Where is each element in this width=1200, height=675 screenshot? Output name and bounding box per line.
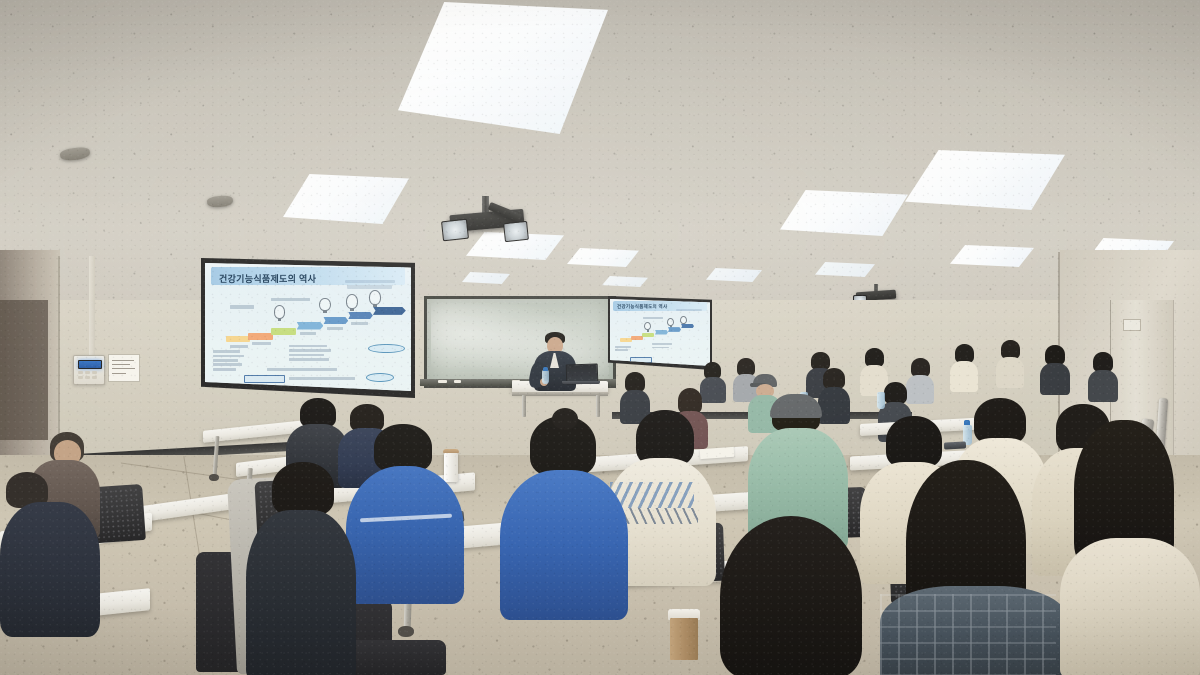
slide-body-text — [267, 368, 337, 371]
lecture-hall-photo: 건강기능식품제도의 역사 — [0, 0, 1200, 675]
door-sign — [1123, 319, 1141, 331]
audience-member — [700, 516, 880, 675]
hair-bun — [552, 408, 578, 430]
slide-bulb-icon — [346, 294, 358, 309]
hair — [1045, 345, 1065, 365]
presenter-water-bottle — [542, 370, 549, 384]
timeline-segment — [323, 317, 348, 325]
control-panel-button[interactable] — [78, 371, 83, 374]
slide-caption — [230, 345, 249, 348]
audience-member — [500, 416, 628, 616]
slide-caption — [351, 322, 367, 325]
podium-edge — [512, 392, 608, 396]
torso — [996, 357, 1024, 388]
timeline-segment — [271, 328, 296, 335]
audience-member — [950, 344, 978, 390]
projector-lens — [503, 221, 529, 242]
presenter-laptop-base — [562, 381, 600, 384]
slide-body-text — [289, 354, 324, 357]
timeline-segment — [373, 307, 406, 315]
slide-bulb-icon — [274, 305, 285, 319]
slide-caption — [300, 332, 316, 335]
timeline-segment — [297, 322, 324, 330]
timeline-segment — [655, 330, 668, 335]
slide-left-label — [230, 305, 255, 309]
slide-caption — [327, 327, 343, 330]
hair — [625, 372, 645, 392]
slide-footer-label — [244, 375, 285, 383]
water-bottle — [877, 392, 885, 409]
slide-highlight-ellipse — [366, 373, 395, 382]
torso — [950, 361, 978, 392]
projector-mount-left — [438, 196, 538, 254]
slide-body-text — [289, 345, 326, 348]
audience-member — [346, 424, 464, 599]
slide-canvas: 건강기능식품제도의 역사 — [205, 263, 411, 391]
audience-member — [1088, 352, 1118, 400]
slide-body-text — [652, 343, 672, 345]
slide-body-text — [213, 359, 238, 362]
slide-upper-note — [643, 317, 663, 319]
slide-caption — [252, 342, 271, 345]
slide-bulb-icon — [319, 298, 330, 312]
slide-bulb-icon — [667, 318, 674, 327]
timeline-segment — [348, 312, 373, 320]
hair — [720, 516, 862, 675]
hair — [884, 382, 907, 404]
audience-member — [0, 472, 100, 632]
slide-title: 건강기능식품제도의 역사 — [617, 304, 667, 310]
torso — [0, 502, 100, 637]
slide-body-text — [213, 355, 244, 358]
slide-body-text — [615, 349, 628, 351]
slide-bulb-icon — [369, 290, 381, 305]
slide-bulb-icon — [680, 316, 687, 325]
projector-lens — [441, 219, 469, 242]
ceiling-light-panel — [815, 262, 875, 277]
right-projection-screen-surface: 건강기능식품제도의 역사 — [610, 299, 710, 366]
control-panel-button[interactable] — [85, 376, 90, 379]
torso — [1088, 370, 1118, 402]
control-panel-button[interactable] — [78, 376, 83, 379]
torso — [500, 470, 628, 620]
left-doorway[interactable] — [0, 300, 48, 440]
control-panel-lcd — [78, 360, 102, 369]
hair — [374, 424, 432, 472]
control-panel-button[interactable] — [85, 371, 90, 374]
plaid-pattern — [880, 594, 1056, 675]
control-panel-button[interactable] — [92, 371, 97, 374]
ceiling-light-panel — [567, 248, 639, 267]
bottle-cap — [543, 367, 548, 371]
audience-member — [1040, 345, 1070, 393]
torso — [346, 466, 464, 604]
slide-title: 건강기능식품제도의 역사 — [219, 272, 316, 285]
slide-body-text — [615, 346, 631, 348]
slide-top-right-note — [676, 309, 702, 311]
ceiling-light-panel — [950, 245, 1034, 267]
slide-body-text — [213, 363, 242, 366]
control-panel-button[interactable] — [92, 376, 97, 379]
slide-highlight-ellipse — [368, 344, 405, 354]
av-control-panel[interactable] — [73, 355, 105, 385]
cap-icon — [770, 394, 822, 418]
slide-footer-label — [630, 357, 652, 363]
podium-leg — [596, 395, 600, 417]
slide-body-text — [213, 368, 236, 371]
desk-caster — [398, 626, 414, 637]
ceiling-light-panel — [706, 268, 762, 282]
timeline-segment — [642, 333, 654, 337]
right-projection-screen-frame: 건강기능식품제도의 역사 — [608, 296, 712, 370]
slide-upper-note — [271, 298, 310, 302]
timeline-segment — [668, 327, 681, 332]
desk-caster — [209, 474, 219, 481]
slide-body-text — [289, 358, 328, 361]
torso — [1060, 538, 1200, 675]
slide-top-right-note — [345, 280, 394, 284]
audience-member — [996, 340, 1024, 386]
timeline-segment — [226, 336, 251, 342]
hair — [1093, 352, 1113, 372]
slide-top-right-note — [347, 285, 392, 289]
audience-member — [880, 460, 1070, 675]
slide-canvas: 건강기능식품제도의 역사 — [610, 299, 710, 366]
slide-body-text — [289, 349, 330, 352]
timeline-segment — [248, 333, 273, 340]
torso — [1040, 363, 1070, 395]
slide-body-text — [289, 377, 355, 380]
slide-body-text — [213, 350, 240, 353]
ceiling-light-panel — [602, 276, 648, 287]
audience-member — [1060, 420, 1200, 675]
wall-notice-paper — [108, 354, 140, 382]
audience-member — [246, 462, 356, 675]
torso — [246, 510, 356, 675]
left-projection-screen-frame: 건강기능식품제도의 역사 — [201, 258, 415, 398]
hair — [272, 462, 334, 516]
ceiling-light-panel — [462, 272, 510, 284]
podium-leg — [522, 395, 526, 417]
wall-conduit — [89, 256, 95, 366]
left-projection-screen-surface: 건강기능식품제도의 역사 — [205, 263, 411, 391]
slide-bulb-icon — [644, 322, 651, 331]
coffee-cup-sleeve — [670, 618, 698, 660]
timeline-segment — [681, 324, 694, 329]
slide-body-text — [652, 347, 669, 349]
hair — [823, 368, 845, 389]
